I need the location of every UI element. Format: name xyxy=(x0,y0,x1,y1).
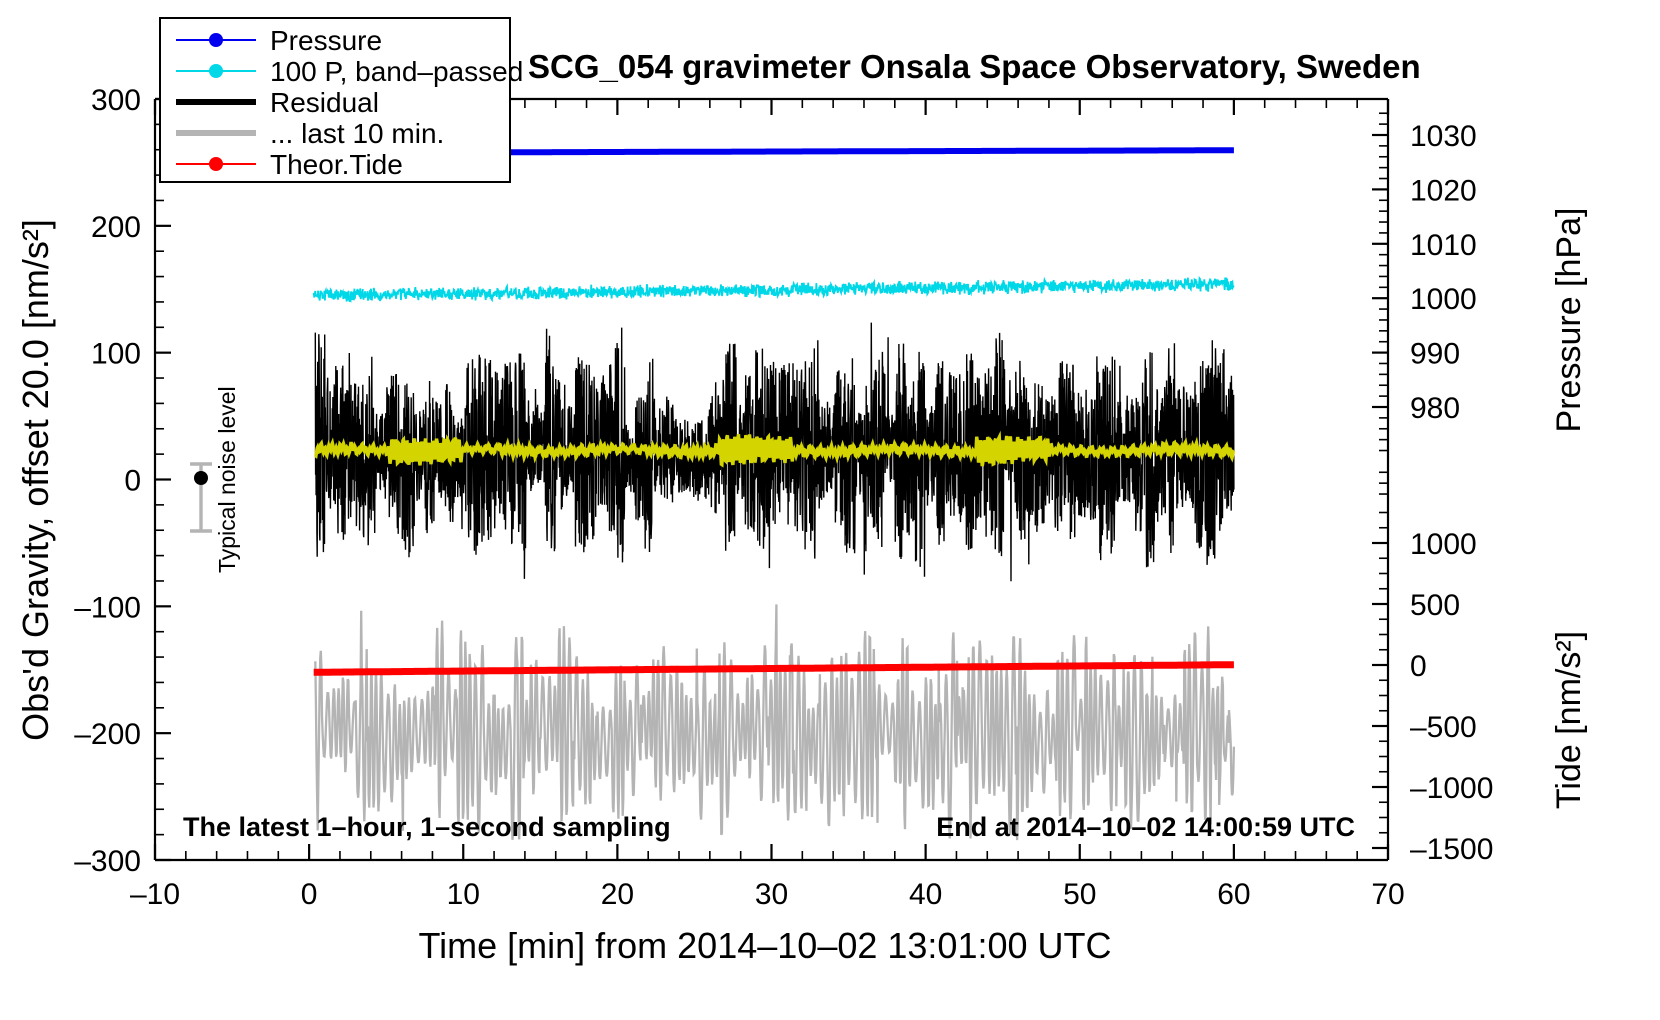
legend-label-1: 100 P, band–passed xyxy=(270,56,523,87)
x-tick-label: 40 xyxy=(909,878,942,911)
legend: Pressure100 P, band–passedResidual... la… xyxy=(160,18,523,182)
legend-label-4: Theor.Tide xyxy=(270,149,403,180)
x-tick-label: 50 xyxy=(1063,878,1096,911)
bottom-left-note: The latest 1–hour, 1–second sampling xyxy=(183,812,671,842)
legend-label-3: ... last 10 min. xyxy=(270,118,444,149)
legend-marker-4 xyxy=(209,157,223,171)
y-tide-tick-label: –500 xyxy=(1410,711,1477,744)
y-left-tick-label: 300 xyxy=(91,84,141,117)
y-tide-tick-label: –1500 xyxy=(1410,833,1493,866)
y-pressure-tick-label: 1000 xyxy=(1410,283,1477,316)
y-left-tick-label: 0 xyxy=(124,465,141,498)
page-title: SCG_054 gravimeter Onsala Space Observat… xyxy=(528,48,1421,85)
y-left-tick-label: 200 xyxy=(91,211,141,244)
y-tide-tick-label: –1000 xyxy=(1410,772,1493,805)
y-axis-pressure-title: Pressure [hPa] xyxy=(1550,208,1588,433)
y-pressure-tick-label: 980 xyxy=(1410,392,1460,425)
x-tick-label: 70 xyxy=(1371,878,1404,911)
y-axis-tide-title: Tide [nm/s²] xyxy=(1550,631,1588,809)
trace-pressure xyxy=(510,150,1234,152)
typical-noise-level-label: Typical noise level xyxy=(214,386,240,573)
y-pressure-tick-label: 1030 xyxy=(1410,120,1477,153)
y-left-tick-label: –300 xyxy=(74,845,141,878)
y-pressure-tick-label: 1010 xyxy=(1410,229,1477,262)
y-tide-tick-label: 1000 xyxy=(1410,528,1477,561)
x-tick-label: 30 xyxy=(755,878,788,911)
legend-label-2: Residual xyxy=(270,87,379,118)
gravimeter-plot-page: 3002001000–100–200–300 –1001020304050607… xyxy=(0,0,1660,1020)
y-left-tick-label: –100 xyxy=(74,591,141,624)
x-tick-label: 10 xyxy=(447,878,480,911)
bottom-right-note: End at 2014–10–02 14:00:59 UTC xyxy=(936,812,1355,842)
y-pressure-tick-label: 1020 xyxy=(1410,174,1477,207)
y-left-tick-label: 100 xyxy=(91,338,141,371)
x-tick-label: –10 xyxy=(130,878,180,911)
y-axis-left-title: Obs'd Gravity, offset 20.0 [nm/s²] xyxy=(15,219,56,741)
y-tide-tick-label: 0 xyxy=(1410,650,1427,683)
y-left-tick-label: –200 xyxy=(74,718,141,751)
x-tick-label: 60 xyxy=(1217,878,1250,911)
legend-marker-0 xyxy=(209,33,223,47)
x-tick-label: 20 xyxy=(601,878,634,911)
legend-marker-1 xyxy=(209,64,223,78)
x-axis-title: Time [min] from 2014–10–02 13:01:00 UTC xyxy=(418,925,1111,966)
x-tick-label: 0 xyxy=(301,878,318,911)
y-pressure-tick-label: 990 xyxy=(1410,338,1460,371)
plot-canvas: 3002001000–100–200–300 –1001020304050607… xyxy=(0,0,1660,1020)
y-tide-tick-label: 500 xyxy=(1410,589,1460,622)
legend-label-0: Pressure xyxy=(270,25,382,56)
